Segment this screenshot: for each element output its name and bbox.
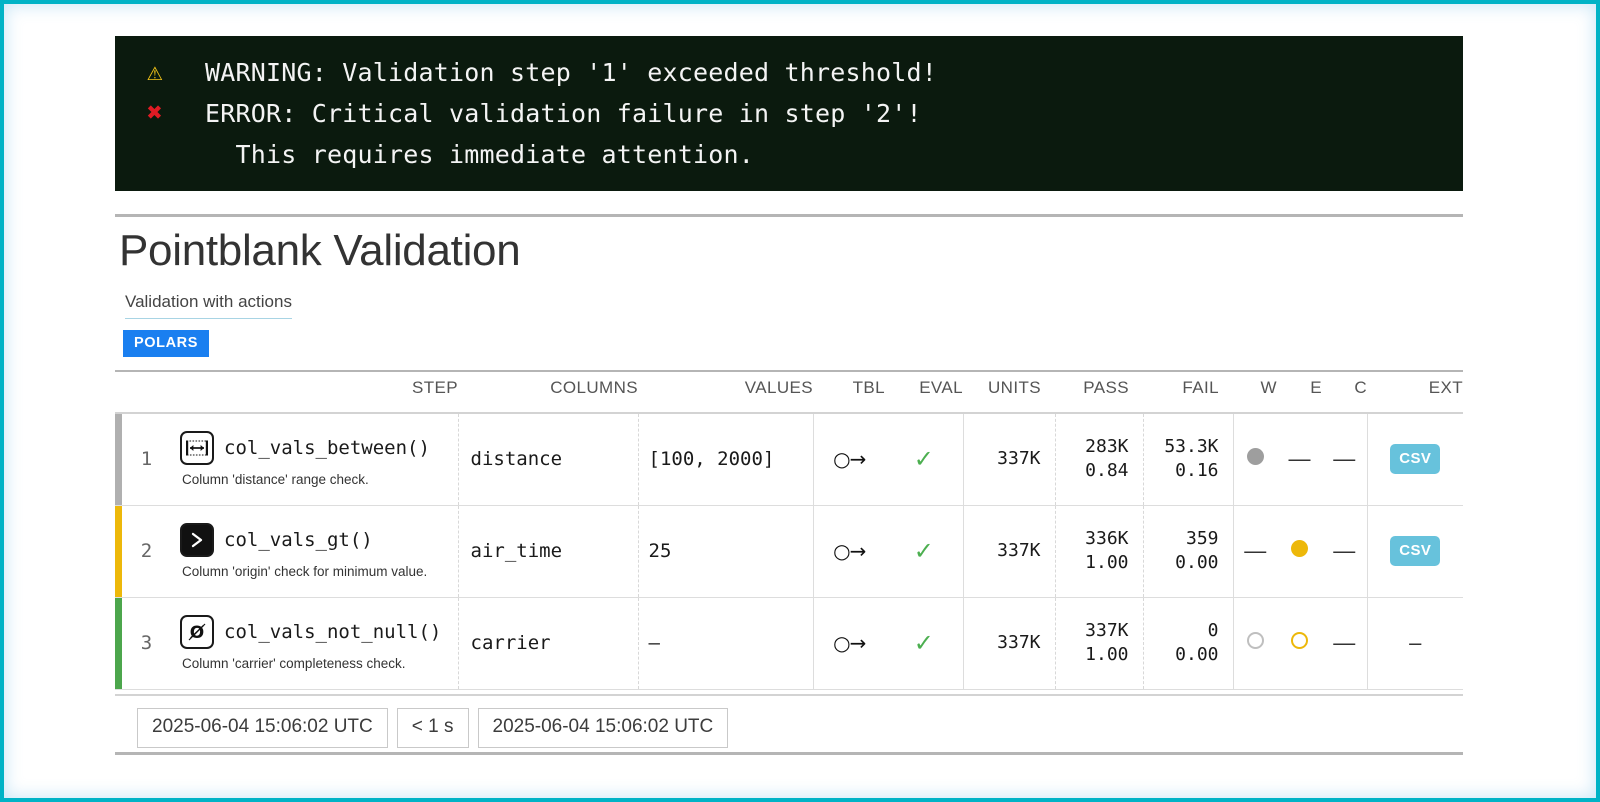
not-null-icon: Ø [180,615,214,649]
col-header-index [122,371,178,413]
report-footer: 2025-06-04 15:06:02 UTC < 1 s 2025-06-04… [115,694,1463,748]
row-fail: 3590.00 [1143,505,1233,597]
row-index: 2 [122,505,178,597]
footer-duration: < 1 s [397,708,469,748]
page-title: Pointblank Validation [119,226,520,276]
csv-download-button[interactable]: CSV [1390,444,1440,474]
report-page: ⚠ WARNING: Validation step '1' exceeded … [4,4,1596,798]
row-fail: 53.3K0.16 [1143,413,1233,505]
row-error-flag: — [1277,413,1322,505]
row-eval-cell: ✓ [885,597,963,689]
row-step-function: col_vals_gt() [224,529,373,551]
console-line-continuation: This requires immediate attention. [115,134,1463,175]
table-row: 1col_vals_between()Column 'distance' ran… [115,413,1463,505]
col-header-bar [115,371,122,413]
col-header-w: W [1233,371,1277,413]
table-row: 2col_vals_gt()Column 'origin' check for … [115,505,1463,597]
row-ext-cell: – [1367,597,1463,689]
row-step-cell: col_vals_between()Column 'distance' rang… [178,413,458,505]
row-columns: distance [458,413,638,505]
console-warning-text: WARNING: Validation step '1' exceeded th… [205,52,937,93]
status-dash-icon: — [1333,446,1355,471]
console-continuation-text: This requires immediate attention. [205,134,754,175]
validation-table: STEP COLUMNS VALUES TBL EVAL UNITS PASS … [115,370,1463,690]
row-units: 337K [963,505,1055,597]
row-tbl-cell: ○→ [813,413,885,505]
col-header-tbl: TBL [813,371,885,413]
greater-than-icon [180,523,214,557]
validation-table-wrapper: STEP COLUMNS VALUES TBL EVAL UNITS PASS … [115,370,1463,690]
row-index: 1 [122,413,178,505]
status-dot-icon [1247,632,1264,649]
row-values: 25 [638,505,813,597]
table-row: 3Øcol_vals_not_null()Column 'carrier' co… [115,597,1463,689]
console-line-error: ✖ ERROR: Critical validation failure in … [115,93,1463,134]
row-status-bar [115,597,122,689]
row-critical-flag: — [1322,597,1367,689]
col-header-values: VALUES [638,371,813,413]
col-header-units: UNITS [963,371,1055,413]
check-icon: ✓ [914,538,934,565]
row-index: 3 [122,597,178,689]
between-range-icon [180,431,214,465]
col-header-c: C [1322,371,1367,413]
row-values: [100, 2000] [638,413,813,505]
status-dash-icon: — [1289,446,1311,471]
csv-download-button[interactable]: CSV [1390,536,1440,566]
table-arrow-icon: ○→ [833,447,865,471]
col-header-e: E [1277,371,1322,413]
table-header-row: STEP COLUMNS VALUES TBL EVAL UNITS PASS … [115,371,1463,413]
row-status-bar [115,413,122,505]
row-eval-cell: ✓ [885,413,963,505]
footer-divider [115,752,1463,755]
row-critical-flag: — [1322,505,1367,597]
row-tbl-cell: ○→ [813,505,885,597]
row-warn-flag [1233,597,1277,689]
row-step-description: Column 'distance' range check. [182,472,448,487]
row-ext-cell: CSV [1367,505,1463,597]
row-warn-flag: — [1233,505,1277,597]
header-divider [115,214,1463,217]
status-dash-icon: — [1333,538,1355,563]
col-header-columns: COLUMNS [458,371,638,413]
page-subtitle: Validation with actions [125,292,292,319]
footer-end-time: 2025-06-04 15:06:02 UTC [478,708,729,748]
row-tbl-cell: ○→ [813,597,885,689]
status-dot-icon [1291,632,1308,649]
row-warn-flag [1233,413,1277,505]
row-error-flag [1277,597,1322,689]
row-step-description: Column 'carrier' completeness check. [182,656,448,671]
row-step-description: Column 'origin' check for minimum value. [182,564,448,579]
console-error-text: ERROR: Critical validation failure in st… [205,93,922,134]
col-header-eval: EVAL [885,371,963,413]
row-values: – [638,597,813,689]
footer-start-time: 2025-06-04 15:06:02 UTC [137,708,388,748]
ext-dash-icon: – [1409,630,1421,655]
status-dot-icon [1291,540,1308,557]
row-pass: 336K1.00 [1055,505,1143,597]
row-step-function: col_vals_between() [224,437,430,459]
table-arrow-icon: ○→ [833,539,865,563]
row-critical-flag: — [1322,413,1367,505]
row-step-function: col_vals_not_null() [224,621,441,643]
row-units: 337K [963,597,1055,689]
row-step-cell: Øcol_vals_not_null()Column 'carrier' com… [178,597,458,689]
status-dash-icon: — [1333,630,1355,655]
warning-triangle-icon: ⚠ [137,52,205,93]
row-columns: air_time [458,505,638,597]
validation-table-body: 1col_vals_between()Column 'distance' ran… [115,413,1463,689]
row-pass: 283K0.84 [1055,413,1143,505]
error-cross-icon: ✖ [137,93,205,134]
row-columns: carrier [458,597,638,689]
col-header-ext: EXT [1367,371,1463,413]
row-eval-cell: ✓ [885,505,963,597]
row-status-bar [115,505,122,597]
status-dash-icon: — [1244,538,1266,563]
row-error-flag [1277,505,1322,597]
col-header-pass: PASS [1055,371,1143,413]
row-ext-cell: CSV [1367,413,1463,505]
check-icon: ✓ [914,446,934,473]
status-dot-icon [1247,448,1264,465]
console-log-panel: ⚠ WARNING: Validation step '1' exceeded … [115,36,1463,191]
console-line-warning: ⚠ WARNING: Validation step '1' exceeded … [115,52,1463,93]
row-units: 337K [963,413,1055,505]
table-type-badge: POLARS [123,330,209,357]
screenshot-frame: ⚠ WARNING: Validation step '1' exceeded … [0,0,1600,802]
table-arrow-icon: ○→ [833,631,865,655]
col-header-fail: FAIL [1143,371,1233,413]
row-step-cell: col_vals_gt()Column 'origin' check for m… [178,505,458,597]
row-pass: 337K1.00 [1055,597,1143,689]
row-fail: 00.00 [1143,597,1233,689]
check-icon: ✓ [914,630,934,657]
svg-text:Ø: Ø [190,623,204,643]
col-header-step: STEP [178,371,458,413]
